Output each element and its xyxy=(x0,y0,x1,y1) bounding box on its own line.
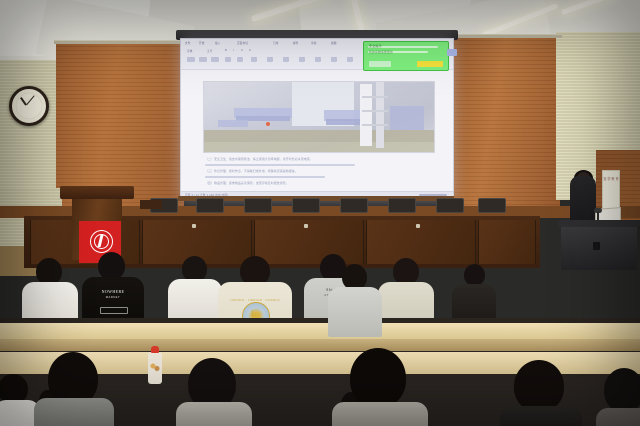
student-head xyxy=(393,258,419,285)
podium-top xyxy=(60,186,134,199)
student-head xyxy=(98,252,125,280)
notification-popup[interactable]: 安全提示 您的系统需要更新 xyxy=(363,41,449,71)
curtain-rail-left xyxy=(54,40,186,44)
slide-photo-dormitory xyxy=(203,81,435,153)
wall-wood-right xyxy=(452,36,560,206)
ribbon-tab-layout: 页面布局 xyxy=(237,41,248,45)
projection-screen: 文件 开始 插入 页面布局 引用 邮件 审阅 视图 宋体 五号 B I U A xyxy=(180,38,454,200)
ribbon-icon[interactable] xyxy=(331,57,337,62)
stage-chair xyxy=(196,198,224,213)
ribbon-icon[interactable] xyxy=(251,57,257,62)
window-control[interactable] xyxy=(447,49,457,56)
popup-confirm-button[interactable] xyxy=(417,61,443,67)
student-head xyxy=(350,348,406,408)
curtain-rail-right xyxy=(450,34,562,38)
font-color-button: A xyxy=(249,49,251,52)
popup-cancel-button[interactable] xyxy=(369,61,391,67)
ribbon-icon[interactable] xyxy=(347,57,353,62)
stage-chair xyxy=(340,198,368,213)
ribbon-icon[interactable] xyxy=(199,57,207,62)
stage-chair xyxy=(436,198,464,213)
student-body xyxy=(500,406,582,426)
audience-row-front xyxy=(0,344,640,426)
ribbon-tab-start: 开始 xyxy=(199,41,205,45)
underline-button: U xyxy=(241,49,243,52)
ribbon-icon[interactable] xyxy=(225,57,231,62)
ribbon-icon[interactable] xyxy=(211,57,219,62)
student-head xyxy=(514,360,564,412)
student-body xyxy=(34,398,114,426)
projected-document: 文件 开始 插入 页面布局 引用 邮件 审阅 视图 宋体 五号 B I U A xyxy=(181,39,453,199)
stage-chair xyxy=(478,198,506,213)
scroll-text: 准 学 教 育 xyxy=(603,177,619,182)
student-head xyxy=(36,258,62,285)
wall-clock xyxy=(9,86,49,126)
ribbon-icon[interactable] xyxy=(187,57,195,62)
ribbon-icon[interactable] xyxy=(283,57,289,62)
shirt-brand-line1: NOWHERE xyxy=(82,289,144,294)
student-head xyxy=(604,368,640,412)
ribbon-tab-review: 审阅 xyxy=(311,41,317,45)
ribbon-tabs: 文件 xyxy=(185,41,191,45)
student-body xyxy=(176,402,252,426)
popup-message: 您的系统需要更新 xyxy=(369,50,393,54)
app-ribbon[interactable]: 文件 开始 插入 页面布局 引用 邮件 审阅 视图 宋体 五号 B I U A xyxy=(181,39,453,70)
ribbon-tab-view: 视图 xyxy=(331,41,337,45)
ribbon-tab-mail: 邮件 xyxy=(293,41,299,45)
ribbon-icon[interactable] xyxy=(315,57,321,62)
student-body xyxy=(332,402,428,426)
ribbon-tab-refs: 引用 xyxy=(273,41,279,45)
ribbon-icon[interactable] xyxy=(237,57,243,62)
ribbon-tab-insert: 插入 xyxy=(215,41,221,45)
popup-title: 安全提示 xyxy=(369,44,382,48)
ribbon-icon[interactable] xyxy=(267,57,273,62)
doc-paragraph-1: （二）安全卫生：宿舍内保持整洁，禁止使用大功率电器，离开时务必关闭电源。 xyxy=(205,157,313,161)
doc-paragraph-3: （四）物品管理：贵重物品妥善保管，发现异常及时报告宿管。 xyxy=(205,181,289,185)
font-name-box: 宋体 xyxy=(187,49,193,53)
student-head xyxy=(464,264,485,286)
stage-chair xyxy=(244,198,272,213)
bold-button: B xyxy=(225,49,227,52)
stage-chair xyxy=(292,198,320,213)
stage-chair xyxy=(388,198,416,213)
doc-paragraph-2: （三）作息管理：按时作息，不得晚归或外宿，特殊情况需提前报备。 xyxy=(205,169,298,173)
font-size-box: 五号 xyxy=(207,49,213,53)
side-equipment-box xyxy=(140,200,162,209)
italic-button: I xyxy=(233,49,234,52)
lecture-hall-photo: 文件 开始 插入 页面布局 引用 邮件 审阅 视图 宋体 五号 B I U A xyxy=(0,0,640,426)
ribbon-icon[interactable] xyxy=(299,57,305,62)
shirt-brand-line2: MARKET xyxy=(82,296,144,299)
student-body xyxy=(328,287,382,337)
student-body xyxy=(596,408,640,426)
